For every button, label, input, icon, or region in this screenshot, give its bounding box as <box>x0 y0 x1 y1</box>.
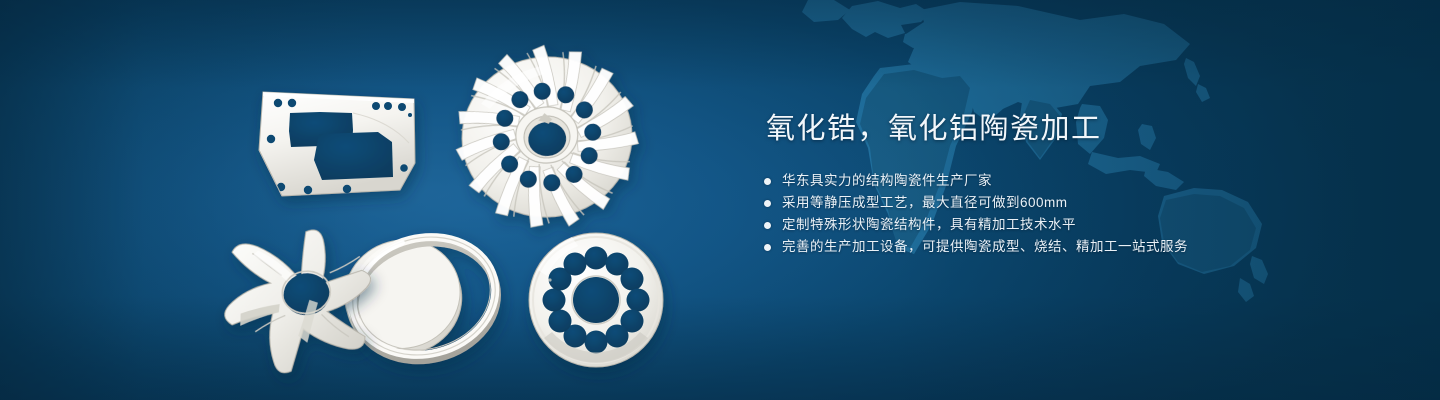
feature-text: 采用等静压成型工艺，最大直径可做到600mm <box>782 192 1068 214</box>
bullet-dot-icon <box>764 178 771 185</box>
bullet-dot-icon <box>764 222 771 229</box>
feature-list-item: 采用等静压成型工艺，最大直径可做到600mm <box>764 192 1384 214</box>
feature-text: 华东具实力的结构陶瓷件生产厂家 <box>782 170 992 192</box>
feature-list-item: 华东具实力的结构陶瓷件生产厂家 <box>764 170 1384 192</box>
feature-text: 完善的生产加工设备，可提供陶瓷成型、烧结、精加工一站式服务 <box>782 236 1188 258</box>
feature-text: 定制特殊形状陶瓷结构件，具有精加工技术水平 <box>782 214 1076 236</box>
bullet-dot-icon <box>764 200 771 207</box>
banner-copy-block: 氧化锆，氧化铝陶瓷加工 华东具实力的结构陶瓷件生产厂家 采用等静压成型工艺，最大… <box>764 110 1384 258</box>
ceramic-products-hero-banner: 氧化锆，氧化铝陶瓷加工 华东具实力的结构陶瓷件生产厂家 采用等静压成型工艺，最大… <box>0 0 1440 400</box>
feature-list-item: 完善的生产加工设备，可提供陶瓷成型、烧结、精加工一站式服务 <box>764 236 1384 258</box>
banner-headline: 氧化锆，氧化铝陶瓷加工 <box>766 110 1384 148</box>
bullet-dot-icon <box>764 244 771 251</box>
feature-list-item: 定制特殊形状陶瓷结构件，具有精加工技术水平 <box>764 214 1384 236</box>
banner-feature-list: 华东具实力的结构陶瓷件生产厂家 采用等静压成型工艺，最大直径可做到600mm 定… <box>764 170 1384 258</box>
